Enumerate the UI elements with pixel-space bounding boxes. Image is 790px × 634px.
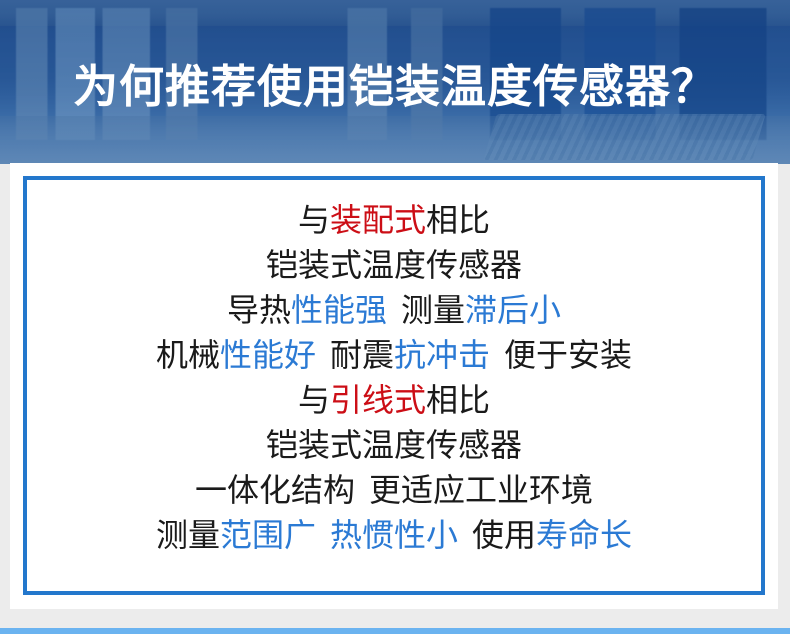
feature-line: 铠装式温度传感器	[266, 243, 522, 288]
feature-line-segment: 铠装式温度传感器	[266, 247, 522, 283]
page-title: 为何推荐使用铠装温度传感器？	[0, 64, 790, 109]
feature-line: 导热性能强测量滞后小	[227, 288, 561, 333]
feature-line-segment: 机械	[156, 337, 220, 373]
feature-line-segment: 相比	[426, 382, 490, 418]
feature-line-segment: 相比	[426, 202, 490, 238]
feature-line: 一体化结构更适应工业环境	[195, 468, 593, 513]
feature-line: 铠装式温度传感器	[266, 423, 522, 468]
content-panel: 与装配式相比铠装式温度传感器导热性能强测量滞后小机械性能好耐震抗冲击便于安装与引…	[10, 163, 778, 609]
feature-line-segment: 便于安装	[504, 337, 632, 373]
feature-line: 与装配式相比	[298, 198, 490, 243]
feature-line-segment: 与	[298, 202, 330, 238]
bordered-content-box: 与装配式相比铠装式温度传感器导热性能强测量滞后小机械性能好耐震抗冲击便于安装与引…	[23, 176, 765, 595]
page-root: 为何推荐使用铠装温度传感器？ 与装配式相比铠装式温度传感器导热性能强测量滞后小机…	[0, 0, 790, 634]
feature-line-segment: 导热	[227, 292, 291, 328]
feature-line-segment: 更适应工业环境	[369, 472, 593, 508]
feature-line-segment: 性能好	[220, 337, 316, 373]
feature-line-segment: 与	[298, 382, 330, 418]
feature-line-segment: 范围广	[220, 517, 316, 553]
feature-line-segment: 耐震	[330, 337, 394, 373]
feature-line: 测量范围广热惯性小使用寿命长	[156, 513, 632, 558]
feature-line-segment: 热惯性小	[330, 517, 458, 553]
feature-line-segment: 测量	[401, 292, 465, 328]
feature-line-segment: 引线式	[330, 382, 426, 418]
feature-text-list: 与装配式相比铠装式温度传感器导热性能强测量滞后小机械性能好耐震抗冲击便于安装与引…	[27, 198, 761, 558]
feature-line-segment: 性能强	[291, 292, 387, 328]
footer-gray-band	[0, 609, 790, 628]
feature-line-segment: 铠装式温度传感器	[266, 427, 522, 463]
feature-line: 机械性能好耐震抗冲击便于安装	[156, 333, 632, 378]
footer-blue-strip	[0, 628, 790, 634]
feature-line-segment: 抗冲击	[394, 337, 490, 373]
feature-line: 与引线式相比	[298, 378, 490, 423]
feature-line-segment: 寿命长	[536, 517, 632, 553]
header-banner: 为何推荐使用铠装温度传感器？	[0, 0, 790, 164]
feature-line-segment: 一体化结构	[195, 472, 355, 508]
feature-line-segment: 装配式	[330, 202, 426, 238]
feature-line-segment: 滞后小	[465, 292, 561, 328]
feature-line-segment: 使用	[472, 517, 536, 553]
feature-line-segment: 测量	[156, 517, 220, 553]
